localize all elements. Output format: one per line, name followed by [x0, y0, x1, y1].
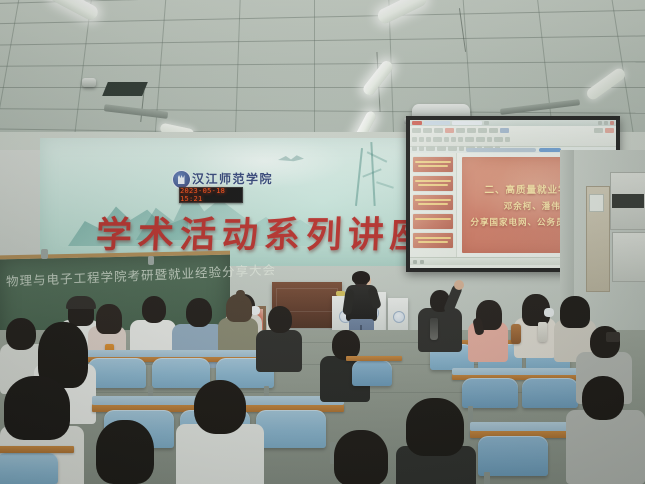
ribbon-tab-review[interactable] — [489, 128, 498, 133]
slide-thumbnail[interactable] — [413, 176, 453, 191]
hand — [454, 280, 464, 290]
seat[interactable] — [478, 436, 548, 476]
section-icon[interactable] — [426, 146, 435, 151]
slide-number-indicator — [413, 260, 417, 264]
align-icons[interactable] — [465, 137, 474, 142]
bold-icon[interactable] — [451, 137, 456, 142]
font-family-select[interactable] — [433, 137, 442, 142]
language-indicator[interactable] — [420, 260, 424, 264]
ceiling-light — [48, 0, 101, 22]
university-name: 汉江师范学院 — [192, 170, 273, 187]
notification-text — [466, 148, 536, 152]
ceiling-tile-gap — [102, 82, 148, 96]
banner-title: 学术活动系列讲座 — [95, 206, 434, 258]
face-mask — [544, 308, 554, 317]
cap — [66, 296, 96, 309]
arrange-icon[interactable] — [494, 137, 503, 142]
slide-thumbnail[interactable] — [413, 233, 453, 248]
ceiling-projector — [82, 78, 96, 87]
document-tab-active[interactable] — [452, 121, 482, 125]
slide-thumbnail[interactable] — [413, 157, 453, 172]
ribbon-tab-home[interactable] — [423, 128, 432, 133]
chalk-holder — [148, 256, 154, 265]
lecture-hall-photo: 汉江师范学院 2023-05-18 15:21 学术活动系列讲座 物理与电子工程… — [0, 0, 645, 484]
paste-icon[interactable] — [412, 137, 417, 142]
paragraph-icons[interactable] — [437, 146, 446, 151]
hair-clip — [606, 332, 620, 342]
wall-sign — [589, 194, 604, 212]
ceiling-light — [375, 0, 428, 26]
find-icon[interactable] — [505, 137, 510, 142]
lectern-seal-icon — [393, 311, 405, 323]
whiteboard — [0, 150, 44, 268]
water-bottle — [538, 322, 547, 342]
ponytail — [236, 290, 245, 302]
seat[interactable] — [0, 452, 58, 484]
ceiling-light — [585, 66, 628, 102]
ribbon-tab-view[interactable] — [500, 128, 509, 133]
ribbon-tab-animation[interactable] — [467, 128, 476, 133]
seat[interactable] — [88, 358, 146, 388]
layout-icon[interactable] — [419, 146, 424, 151]
close-icon[interactable] — [610, 121, 614, 125]
seat[interactable] — [352, 360, 392, 386]
line-spacing-icon[interactable] — [459, 146, 464, 151]
new-tab-icon[interactable] — [484, 121, 489, 125]
ribbon-tab-file[interactable] — [412, 128, 421, 133]
text-color-icon[interactable] — [487, 137, 492, 142]
italic-icon[interactable] — [458, 137, 463, 142]
shape-gallery[interactable] — [476, 137, 485, 142]
ribbon-tab-insert[interactable] — [434, 128, 443, 133]
new-slide-icon[interactable] — [412, 146, 417, 151]
chalk-holder — [41, 249, 48, 259]
cabinet-opening — [612, 194, 644, 208]
seat[interactable] — [256, 410, 326, 448]
desk-right-aisle — [346, 356, 402, 361]
drink-bottle — [511, 324, 521, 344]
notification-action-button[interactable] — [539, 148, 561, 152]
app-logo-icon — [412, 121, 422, 125]
desk-leg — [484, 472, 490, 484]
list-icons[interactable] — [448, 146, 457, 151]
app-ribbon-toolbar[interactable] — [410, 126, 616, 147]
ceiling-beam — [104, 104, 168, 119]
slide-thumbnail-panel[interactable] — [410, 153, 457, 257]
ribbon-tab-design[interactable] — [445, 128, 454, 133]
wall-cabinet-lower — [612, 232, 645, 282]
seat[interactable] — [462, 378, 518, 408]
ribbon-search-icon[interactable] — [594, 128, 603, 133]
led-clock-display: 2023-05-18 15:21 — [179, 187, 243, 203]
seat[interactable] — [522, 378, 578, 408]
cut-icon[interactable] — [419, 137, 424, 142]
led-clock-text: 2023-05-18 15:21 — [180, 187, 242, 203]
desk-front-left — [0, 446, 74, 453]
desk-surface — [78, 350, 278, 357]
seat[interactable] — [152, 358, 210, 388]
ribbon-commands-row-1[interactable] — [412, 136, 614, 143]
ribbon-tab-transition[interactable] — [456, 128, 465, 133]
maximize-icon[interactable] — [604, 121, 608, 125]
font-size-select[interactable] — [444, 137, 449, 142]
ribbon-tab-slideshow[interactable] — [478, 128, 487, 133]
slide-thumbnail[interactable] — [413, 195, 453, 210]
minimize-icon[interactable] — [598, 121, 602, 125]
slide-thumbnail[interactable] — [413, 214, 453, 229]
copy-icon[interactable] — [426, 137, 431, 142]
ribbon-share-button[interactable] — [605, 128, 614, 133]
document-tab[interactable] — [424, 121, 450, 125]
ribbon-tabs-row[interactable] — [412, 127, 614, 134]
water-bottle — [430, 318, 438, 340]
